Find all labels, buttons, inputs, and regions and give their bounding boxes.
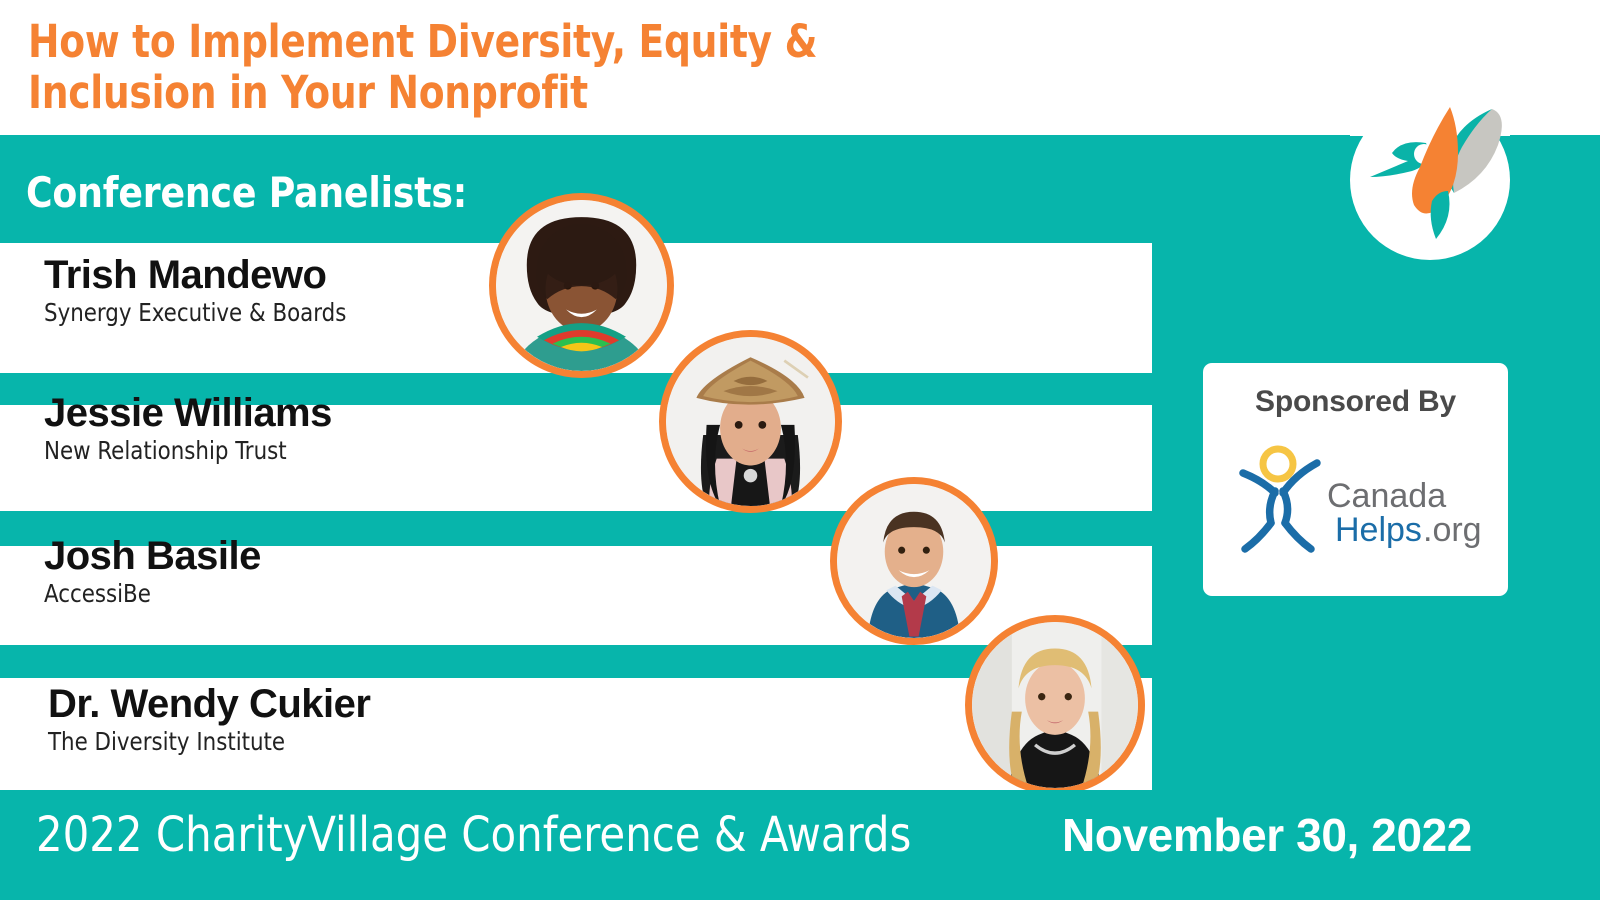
banner-canvas: How to Implement Diversity, Equity & Inc…: [0, 0, 1600, 900]
panelist-avatar: [659, 330, 842, 513]
panelist-name: Trish Mandewo: [44, 252, 362, 298]
panelist-entry: Dr. Wendy Cukier The Diversity Institute: [48, 681, 370, 757]
panelist-entry: Jessie Williams New Relationship Trust: [44, 390, 332, 466]
avatar-image-trish-mandewo: [496, 200, 667, 371]
sponsor-card: Sponsored By Canada Helps .org: [1203, 363, 1508, 596]
panelist-avatar: [830, 477, 998, 645]
canadahelps-logo: Canada Helps .org: [1231, 441, 1481, 563]
panelist-organization: New Relationship Trust: [44, 436, 317, 466]
panelist-avatar: [489, 193, 674, 378]
panelist-avatar: [965, 615, 1145, 795]
panelist-name: Dr. Wendy Cukier: [48, 681, 370, 727]
panelist-entry: Josh Basile AccessiBe: [44, 533, 261, 609]
page-title: How to Implement Diversity, Equity & Inc…: [28, 16, 939, 118]
avatar-image-wendy-cukier: [972, 622, 1138, 788]
panelist-organization: AccessiBe: [44, 579, 250, 609]
panelist-name: Josh Basile: [44, 533, 261, 579]
event-name: 2022 CharityVillage Conference & Awards: [36, 806, 911, 864]
avatar-image-jessie-williams: [666, 337, 835, 506]
avatar-image-josh-basile: [837, 484, 991, 638]
canadahelps-wordmark-canada: Canada: [1327, 477, 1446, 515]
panelist-organization: Synergy Executive & Boards: [44, 298, 346, 328]
canadahelps-wordmark-tld: .org: [1423, 511, 1481, 549]
panelist-entry: Trish Mandewo Synergy Executive & Boards: [44, 252, 362, 328]
charityvillage-hummingbird-icon: [1358, 105, 1508, 245]
panelist-organization: The Diversity Institute: [48, 727, 354, 757]
canadahelps-wordmark-helps: Helps: [1335, 511, 1422, 549]
event-date: November 30, 2022: [1062, 808, 1472, 863]
sponsored-by-label: Sponsored By: [1203, 385, 1508, 419]
panelist-name: Jessie Williams: [44, 390, 332, 436]
panelists-heading: Conference Panelists:: [26, 169, 467, 217]
